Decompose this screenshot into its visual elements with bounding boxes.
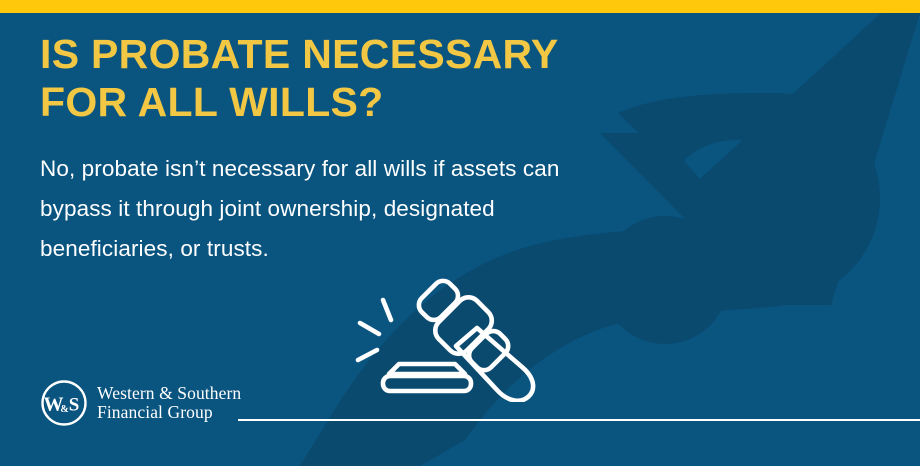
body-text: No, probate isn’t necessary for all will… xyxy=(40,149,630,269)
top-accent-bar xyxy=(0,0,920,13)
question-mark-shape xyxy=(600,13,920,305)
monogram-ampersand: & xyxy=(60,404,68,415)
page-title: Is Probate Necessary For All Wills? xyxy=(40,30,640,126)
brand-wordmark: Western & Southern Financial Group xyxy=(97,384,241,423)
infographic-card: Is Probate Necessary For All Wills? No, … xyxy=(0,0,920,466)
monogram-letter-s: S xyxy=(69,395,80,416)
ws-monogram-icon: W & S xyxy=(40,379,88,427)
brand-logo: W & S Western & Southern Financial Group xyxy=(40,378,241,428)
gavel-sound-block xyxy=(383,364,471,391)
gavel-impact-lines xyxy=(358,300,391,360)
gavel-icon xyxy=(355,252,565,402)
footer-divider xyxy=(238,419,920,421)
